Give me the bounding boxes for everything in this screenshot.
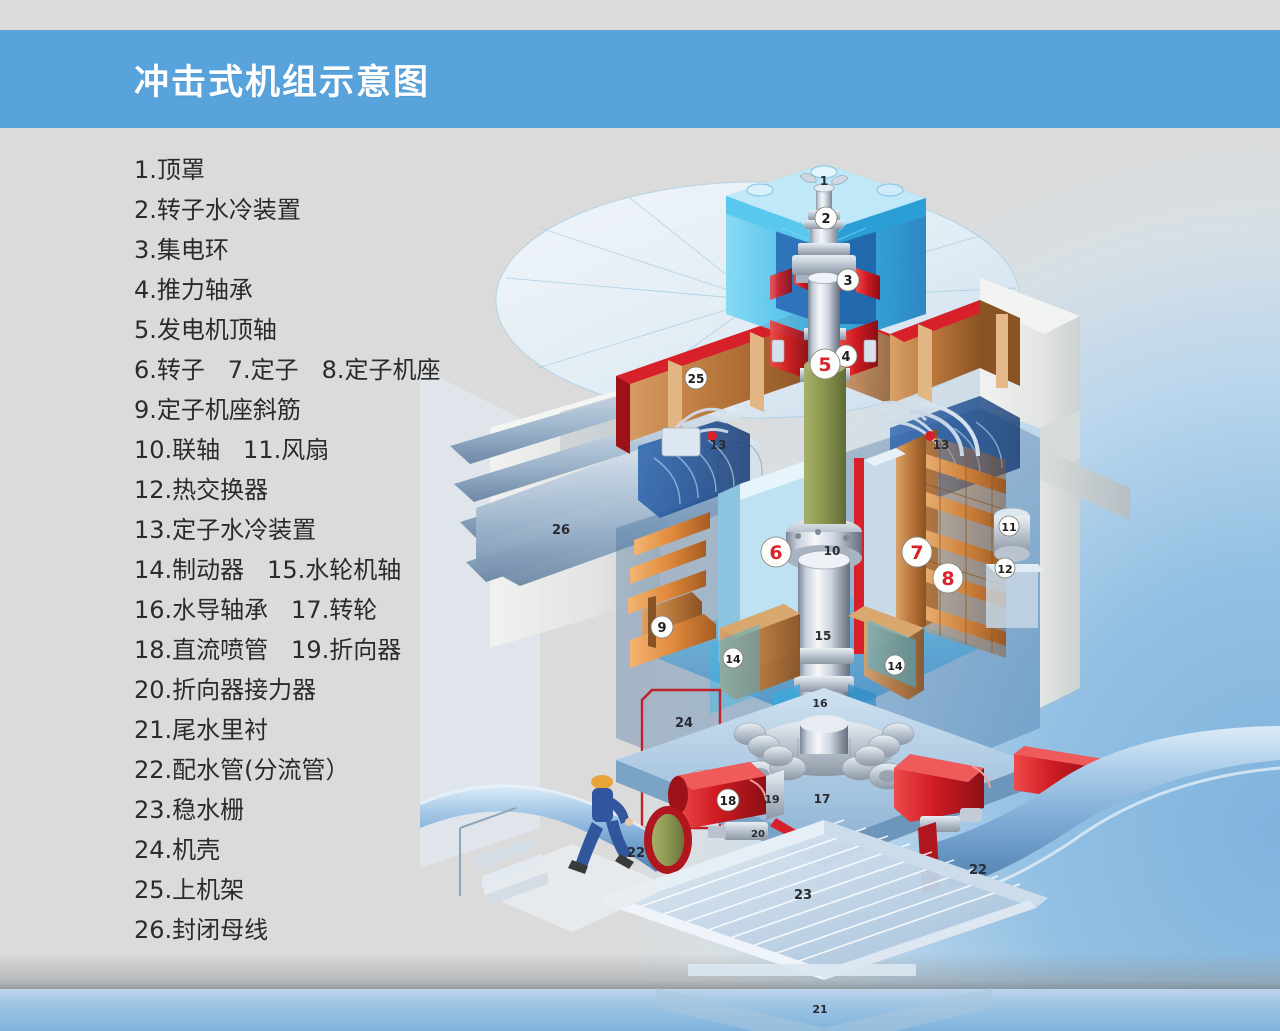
callout-22-left: 22 xyxy=(627,846,645,861)
callout-25: 25 xyxy=(685,367,707,389)
legend-row: 3.集电环 xyxy=(134,230,534,270)
callout-14-left: 14 xyxy=(723,648,743,668)
callout-20: 20 xyxy=(751,829,765,840)
callout-16: 16 xyxy=(812,697,828,710)
callout-19: 19 xyxy=(764,793,779,806)
svg-text:7: 7 xyxy=(910,542,923,564)
legend-row: 6.转子 7.定子 8.定子机座 xyxy=(134,350,534,390)
svg-text:2: 2 xyxy=(821,212,830,227)
legend-row: 20.折向器接力器 xyxy=(134,670,534,710)
legend-row: 24.机壳 xyxy=(134,830,534,870)
legend-row: 2.转子水冷装置 xyxy=(134,190,534,230)
callout-10: 10 xyxy=(824,544,841,558)
callout-24: 24 xyxy=(675,716,693,731)
callout-9: 9 xyxy=(651,616,673,638)
legend-row: 18.直流喷管 19.折向器 xyxy=(134,630,534,670)
legend-row: 21.尾水里衬 xyxy=(134,710,534,750)
svg-text:3: 3 xyxy=(843,274,852,289)
callout-11: 11 xyxy=(999,516,1019,536)
title-band: 冲击式机组示意图 xyxy=(0,30,1280,128)
svg-text:4: 4 xyxy=(841,350,850,365)
legend-row: 10.联轴 11.风扇 xyxy=(134,430,534,470)
svg-text:18: 18 xyxy=(720,794,737,808)
legend-row: 4.推力轴承 xyxy=(134,270,534,310)
callout-6: 6 xyxy=(761,537,791,567)
svg-text:5: 5 xyxy=(818,354,831,376)
legend-row: 25.上机架 xyxy=(134,870,534,910)
callout-13-right: 13 xyxy=(933,438,950,452)
svg-text:11: 11 xyxy=(1001,521,1016,534)
callout-1: 1 xyxy=(820,174,828,188)
svg-text:25: 25 xyxy=(688,372,705,386)
legend-row: 9.定子机座斜筋 xyxy=(134,390,534,430)
callout-12: 12 xyxy=(995,558,1015,578)
legend-row: 1.顶罩 xyxy=(134,150,534,190)
callout-2: 2 xyxy=(815,207,837,229)
callout-18: 18 xyxy=(717,789,739,811)
legend-row: 23.稳水栅 xyxy=(134,790,534,830)
legend-list: 1.顶罩 2.转子水冷装置 3.集电环 4.推力轴承 5.发电机顶轴 6.转子 … xyxy=(134,150,534,950)
callout-13-left: 13 xyxy=(710,438,727,452)
callout-14-right: 14 xyxy=(885,655,905,675)
callout-7: 7 xyxy=(902,537,932,567)
machine-cutaway-illustration: 2 3 4 5 25 xyxy=(420,128,1280,1031)
callout-22-right: 22 xyxy=(969,863,987,878)
legend-row: 16.水导轴承 17.转轮 xyxy=(134,590,534,630)
svg-text:6: 6 xyxy=(769,542,782,564)
svg-text:9: 9 xyxy=(657,621,666,636)
page-title: 冲击式机组示意图 xyxy=(134,54,430,105)
callout-8: 8 xyxy=(933,563,963,593)
legend-row: 12.热交换器 xyxy=(134,470,534,510)
callout-15: 15 xyxy=(815,629,832,643)
slide-canvas: 2 3 4 5 25 xyxy=(0,0,1280,1031)
callout-5: 5 xyxy=(810,349,840,379)
callout-3: 3 xyxy=(837,269,859,291)
rotor-core-body xyxy=(804,358,846,524)
callout-17: 17 xyxy=(814,792,831,806)
svg-text:14: 14 xyxy=(725,653,741,666)
callout-26: 26 xyxy=(552,523,570,538)
legend-row: 13.定子水冷装置 xyxy=(134,510,534,550)
legend-row: 22.配水管(分流管） xyxy=(134,750,534,790)
legend-row: 14.制动器 15.水轮机轴 xyxy=(134,550,534,590)
svg-text:14: 14 xyxy=(887,660,903,673)
svg-text:8: 8 xyxy=(941,568,954,590)
legend-row: 5.发电机顶轴 xyxy=(134,310,534,350)
svg-text:12: 12 xyxy=(997,563,1012,576)
legend-row: 26.封闭母线 xyxy=(134,910,534,950)
callout-23: 23 xyxy=(794,888,812,903)
callout-21: 21 xyxy=(812,1003,827,1016)
